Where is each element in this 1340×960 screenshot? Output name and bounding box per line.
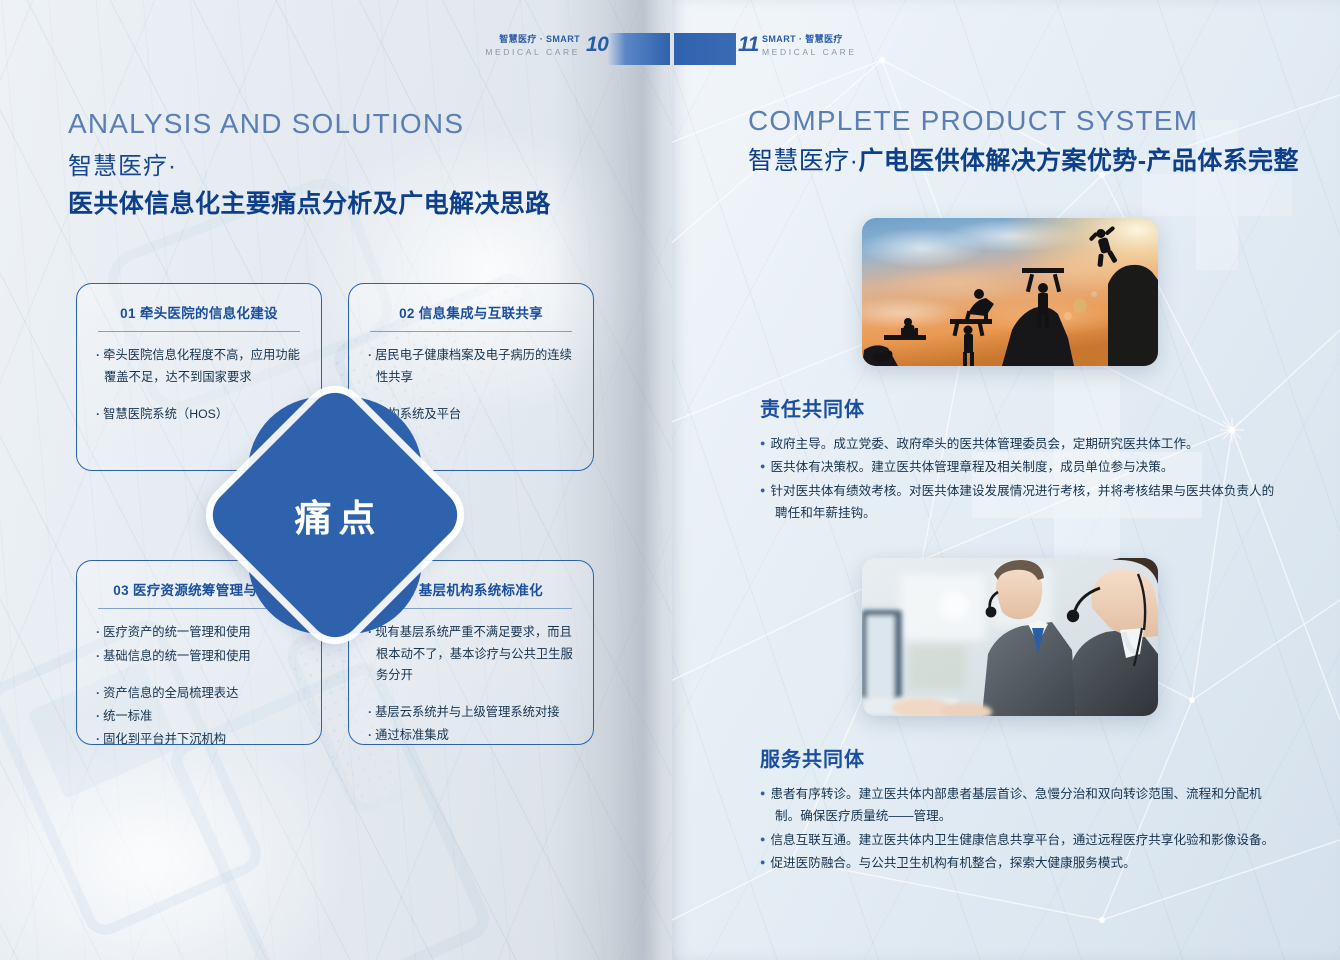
card-bullet-list: 牵头医院信息化程度不高，应用功能覆盖不足，达不到国家要求 智慧医院系统（HOS） xyxy=(96,345,302,424)
card-divider xyxy=(370,608,572,609)
bullet-spacer xyxy=(96,390,302,404)
section-responsibility-community: 责任共同体 政府主导。成立党委、政府牵头的医共体管理委员会，定期研究医共体工作。… xyxy=(760,393,1280,526)
card-bullet: 资产信息的全局梳理表达 xyxy=(96,683,302,704)
card-title: 02 信息集成与互联共享 xyxy=(368,302,574,322)
teamwork-bridge-silhouette-photo xyxy=(862,218,1158,366)
bullet-spacer xyxy=(368,390,574,404)
title-chinese-main: 智慧医疗·广电医供体解决方案优势-产品体系完整 xyxy=(748,141,1299,177)
card-bullet: 统一标准 xyxy=(96,706,302,727)
section-bullet: 患者有序转诊。建立医共体内部患者基层首诊、急慢分治和双向转诊范围、流程和分配机制… xyxy=(760,783,1280,828)
section-bullet: 针对医共体有绩效考核。对医共体建设发展情况进行考核，并将考核结果与医共体负责人的… xyxy=(760,480,1280,525)
title-chinese-main: 医共体信息化主要痛点分析及广电解决思路 xyxy=(68,184,551,220)
section-title: 责任共同体 xyxy=(760,393,1280,422)
card-bullet: 医疗资产的统一管理和使用 xyxy=(96,622,302,643)
card-bullet-list: 医疗资产的统一管理和使用 基础信息的统一管理和使用 资产信息的全局梳理表达 统一… xyxy=(96,622,302,745)
card-bullet: 通过标准集成 xyxy=(368,725,574,745)
title-chinese-bold: 广电医供体解决方案优势-产品体系完整 xyxy=(858,147,1299,175)
card-bullet: 牵头医院信息化程度不高，应用功能覆盖不足，达不到国家要求 xyxy=(96,345,302,387)
section-bullet: 促进医防融合。与公共卫生机构有机整合，探索大健康服务模式。 xyxy=(760,852,1280,874)
section-bullet-list: 政府主导。成立党委、政府牵头的医共体管理委员会，定期研究医共体工作。 医共体有决… xyxy=(760,433,1280,525)
section-bullet: 政府主导。成立党委、政府牵头的医共体管理委员会，定期研究医共体工作。 xyxy=(760,433,1280,455)
title-english: COMPLETE PRODUCT SYSTEM xyxy=(748,105,1299,137)
card-bullet: 居民电子健康档案及电子病历的连续性共享 xyxy=(368,345,574,387)
card-bullet: 现有基层系统严重不满足要求，而且根本动不了，基本诊疗与公共卫生服务分开 xyxy=(368,622,574,685)
card-bullet: 基层云系统并与上级管理系统对接 xyxy=(368,702,574,723)
title-english: ANALYSIS AND SOLUTIONS xyxy=(68,108,551,140)
title-chinese-subtitle: 智慧医疗· xyxy=(68,146,551,181)
right-page-title: COMPLETE PRODUCT SYSTEM 智慧医疗·广电医供体解决方案优势… xyxy=(748,105,1299,177)
section-bullet: 信息互联互通。建立医共体内卫生健康信息共享平台，通过远程医疗共享化验和影像设备。 xyxy=(760,829,1280,851)
section-bullet-list: 患者有序转诊。建立医共体内部患者基层首诊、急慢分治和双向转诊范围、流程和分配机制… xyxy=(760,783,1280,875)
card-bullet: 固化到平台并下沉机构 xyxy=(96,729,302,745)
card-bullet: 同构系统及平台 xyxy=(368,404,574,425)
section-service-community: 服务共同体 患者有序转诊。建立医共体内部患者基层首诊、急慢分治和双向转诊范围、流… xyxy=(760,743,1280,876)
card-bullet-list: 居民电子健康档案及电子病历的连续性共享 同构系统及平台 xyxy=(368,345,574,424)
brochure-spread: 智慧医疗 · SMART MEDICAL CARE 10 11 SMART · … xyxy=(0,0,1340,960)
page-gutter-shadow xyxy=(552,0,672,960)
card-title: 01 牵头医院的信息化建设 xyxy=(96,302,302,322)
bullet-spacer xyxy=(96,669,302,683)
card-bullet: 基础信息的统一管理和使用 xyxy=(96,646,302,667)
section-bullet: 医共体有决策权。建立医共体管理章程及相关制度，成员单位参与决策。 xyxy=(760,456,1280,478)
card-bullet-list: 现有基层系统严重不满足要求，而且根本动不了，基本诊疗与公共卫生服务分开 基层云系… xyxy=(368,622,574,745)
card-bullet: 智慧医院系统（HOS） xyxy=(96,404,302,425)
card-divider xyxy=(370,331,572,332)
bullet-spacer xyxy=(368,688,574,702)
left-page-title: ANALYSIS AND SOLUTIONS 智慧医疗· 医共体信息化主要痛点分… xyxy=(68,108,551,220)
card-divider xyxy=(98,331,300,332)
card-divider xyxy=(98,608,300,609)
call-center-agents-photo xyxy=(862,558,1158,716)
section-title: 服务共同体 xyxy=(760,743,1280,772)
title-chinese-lead: 智慧医疗· xyxy=(748,147,858,175)
